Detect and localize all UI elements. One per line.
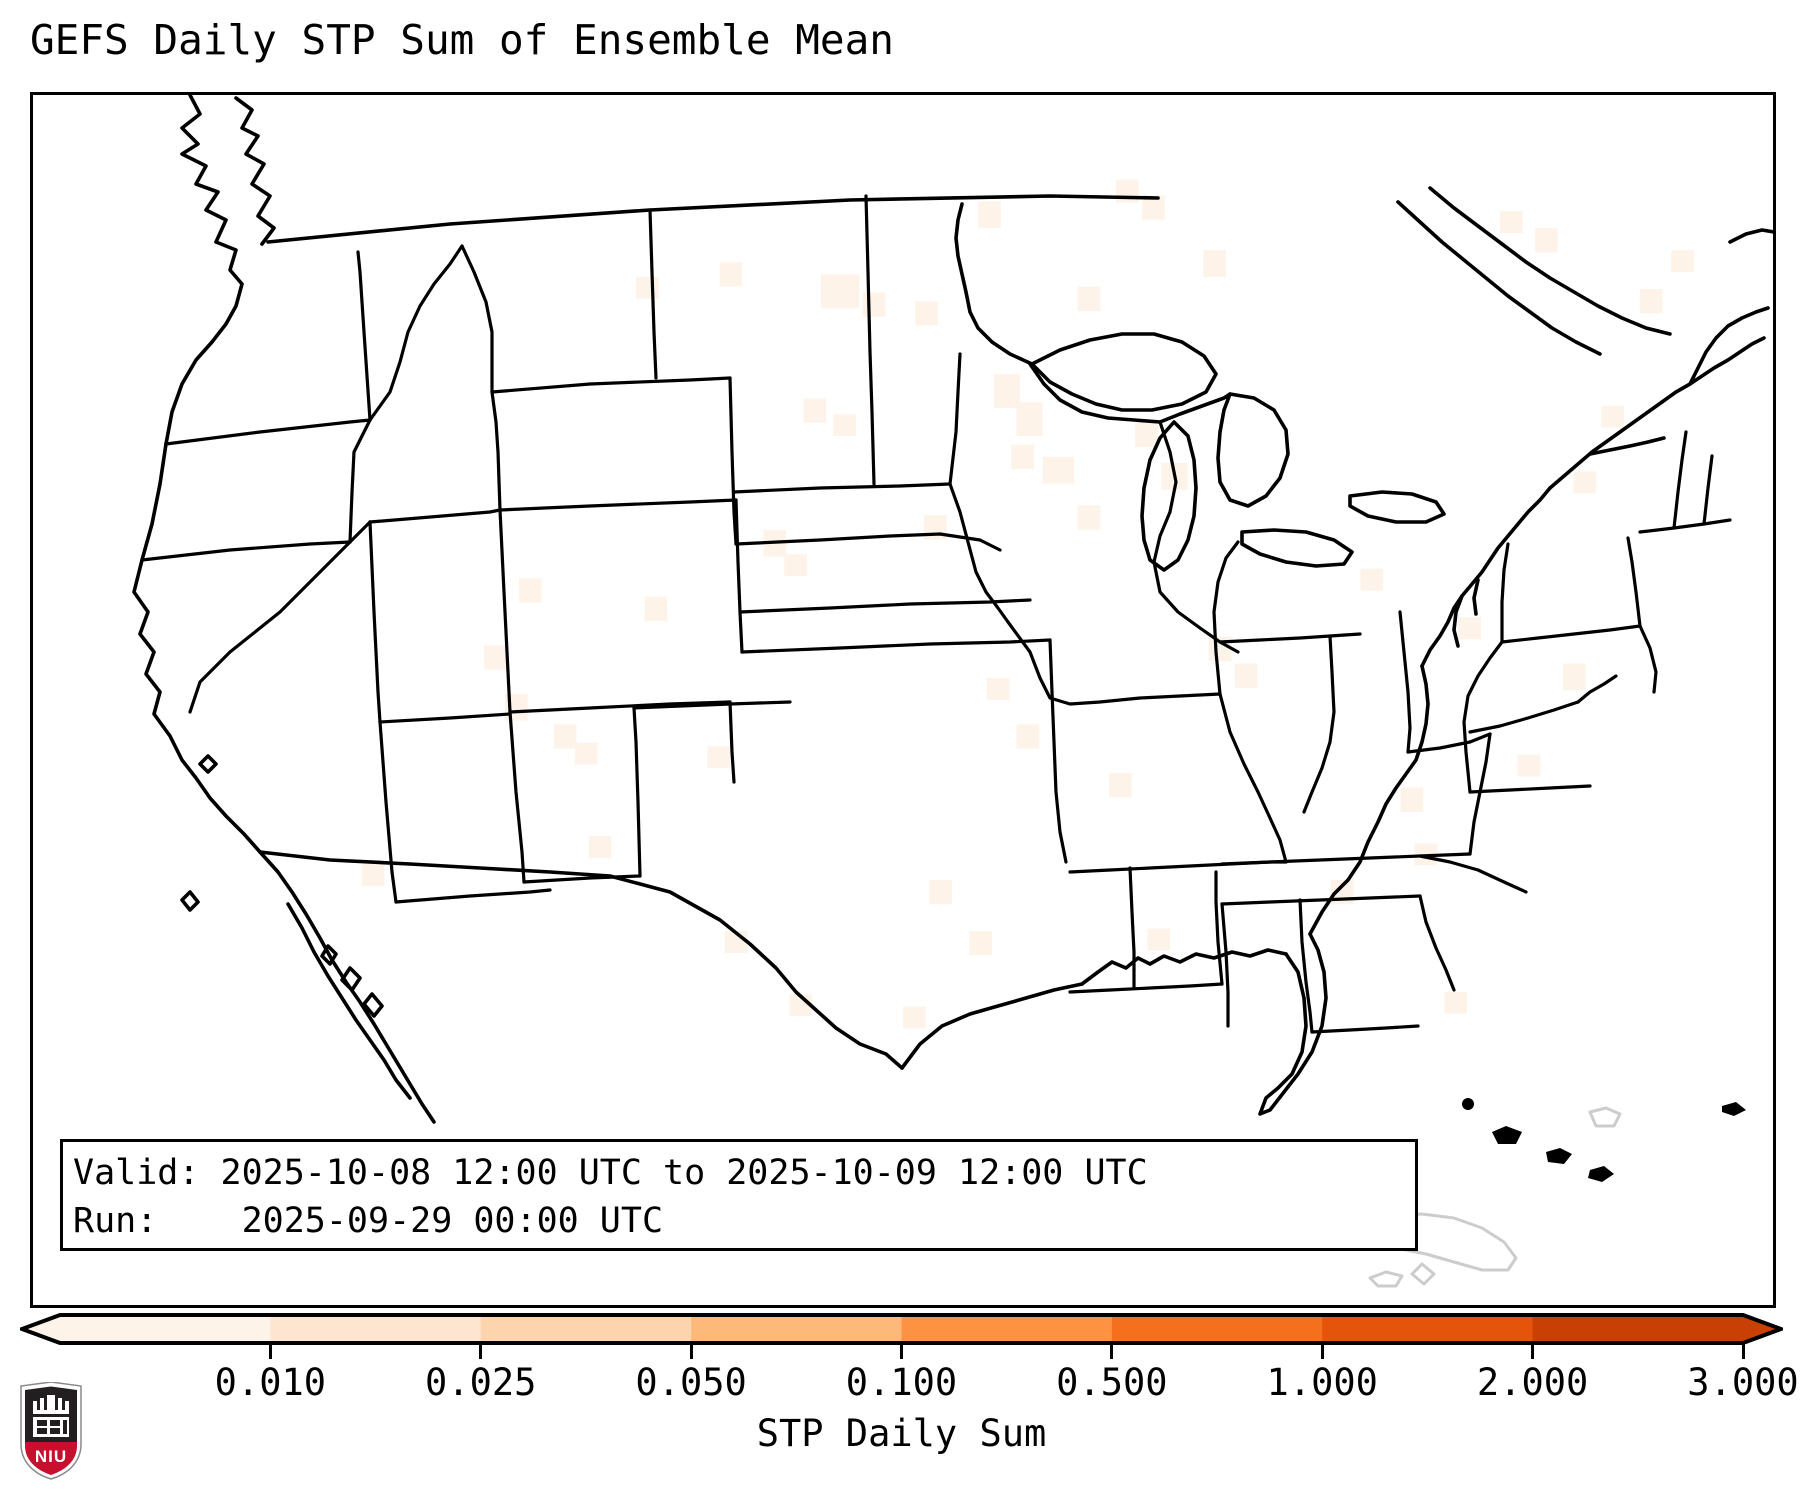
data-cell [1640, 289, 1663, 313]
colorbar-tick-mark [1110, 1343, 1113, 1359]
colorbar-tick-mark [269, 1343, 272, 1359]
map-geography [30, 92, 1776, 1308]
colorbar-tick-label: 0.025 [425, 1361, 536, 1405]
colorbar-tick-mark [690, 1343, 693, 1359]
colorbar-segment [1533, 1315, 1744, 1343]
data-cell [519, 578, 542, 602]
data-cell [362, 864, 385, 886]
colorbar-segment [1112, 1315, 1323, 1343]
colorbar-tick-labels: 0.0100.0250.0500.1000.5001.0002.0003.000 [60, 1361, 1743, 1405]
data-cell [636, 277, 659, 299]
colorbar-segment [60, 1315, 271, 1343]
data-cell [1401, 788, 1424, 812]
data-cell [915, 301, 938, 325]
data-cell [1203, 250, 1226, 277]
colorbar-segment [270, 1315, 481, 1343]
data-cell [1518, 755, 1541, 777]
data-cell [707, 746, 730, 768]
data-cell [1135, 423, 1158, 447]
colorbar-segment [902, 1315, 1113, 1343]
page-title: GEFS Daily STP Sum of Ensemble Mean [30, 14, 894, 66]
colorbar-tick-mark [1742, 1343, 1745, 1359]
data-cell [1444, 992, 1467, 1014]
data-cell [1361, 569, 1384, 591]
data-cell [1011, 445, 1034, 469]
colorbar-segment [481, 1315, 692, 1343]
data-cell [1017, 724, 1040, 748]
colorbar-segment [1322, 1315, 1533, 1343]
colorbar-tick-label: 0.500 [1056, 1361, 1167, 1405]
colorbar-axis-label: STP Daily Sum [0, 1411, 1803, 1457]
data-cell [1017, 402, 1043, 436]
data-cell [1458, 617, 1481, 639]
data-cell [645, 597, 668, 621]
data-cell [1563, 664, 1586, 691]
data-cell [1078, 287, 1101, 311]
data-cell [821, 274, 859, 308]
data-cell [1109, 773, 1132, 797]
small-islands [1367, 1098, 1746, 1221]
data-cell [1535, 228, 1558, 252]
data-cell [833, 414, 856, 436]
colorbar[interactable]: 0.0100.0250.0500.1000.5001.0002.0003.000 [60, 1311, 1743, 1343]
data-cell [863, 293, 886, 317]
map-axes[interactable] [30, 92, 1776, 1308]
data-cell [554, 724, 577, 748]
data-cell [987, 678, 1010, 700]
colorbar-tick-mark [479, 1343, 482, 1359]
niu-logo: NIU [18, 1382, 84, 1480]
colorbar-tick-label: 2.000 [1477, 1361, 1588, 1405]
figure-canvas: GEFS Daily STP Sum of Ensemble Mean [0, 0, 1803, 1500]
data-cell [929, 880, 952, 904]
data-cell [903, 1006, 926, 1028]
colorbar-tick-label: 1.000 [1267, 1361, 1378, 1405]
run-time-line: Run: 2025-09-29 00:00 UTC [73, 1197, 1415, 1245]
data-cell [720, 262, 743, 286]
colorbar-tick-mark [1531, 1343, 1534, 1359]
data-cell [994, 374, 1020, 408]
data-cell [1147, 929, 1170, 951]
colorbar-tick-marks [60, 1343, 1743, 1359]
data-cell [1235, 664, 1258, 688]
coastlines-and-borders [134, 95, 1774, 1122]
colorbar-tick-mark [900, 1343, 903, 1359]
colorbar-tick-label: 0.010 [215, 1361, 326, 1405]
data-cell [1601, 406, 1624, 428]
data-cell [589, 836, 612, 858]
data-cell [1500, 211, 1523, 233]
data-cell [1671, 250, 1694, 272]
colorbar-segment [691, 1315, 902, 1343]
data-cell [969, 931, 992, 955]
colorbar-tick-label: 0.050 [635, 1361, 746, 1405]
data-cell [1043, 457, 1074, 484]
colorbar-tick-mark [1321, 1343, 1324, 1359]
data-cell [1078, 505, 1101, 529]
info-annotation-box: Valid: 2025-10-08 12:00 UTC to 2025-10-0… [60, 1139, 1418, 1251]
colorbar-tick-label: 3.000 [1687, 1361, 1798, 1405]
data-cell [978, 201, 1001, 228]
svg-text:NIU: NIU [35, 1447, 67, 1466]
data-cell [784, 554, 807, 576]
data-cell [484, 645, 507, 669]
data-cell [575, 743, 598, 765]
colorbar-tick-label: 0.100 [846, 1361, 957, 1405]
data-shading-layer [362, 180, 1694, 1199]
data-cell [804, 398, 827, 422]
valid-time-line: Valid: 2025-10-08 12:00 UTC to 2025-10-0… [73, 1149, 1415, 1197]
data-cell [1574, 471, 1597, 493]
